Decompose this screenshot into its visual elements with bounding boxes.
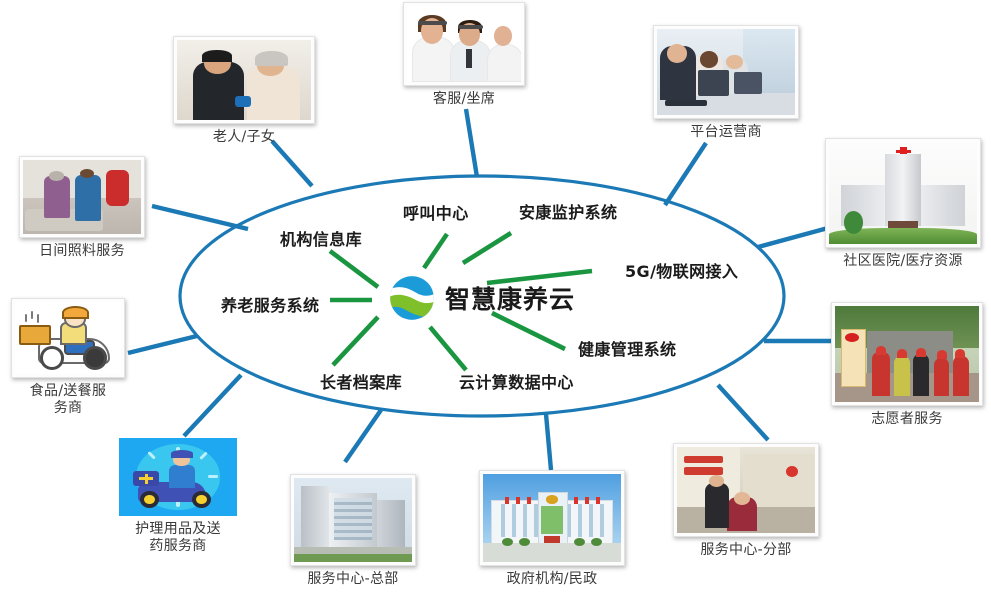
node-caption: 服务中心-总部 (307, 571, 398, 588)
inner-label-health-monitoring: 安康监护系统 (519, 199, 617, 223)
green-spoke-cloud-data-center (430, 327, 466, 370)
spoke-government (546, 414, 551, 470)
photo-hospital-building (825, 138, 981, 248)
spoke-day-care (152, 206, 248, 229)
node-community-hospital[interactable]: 社区医院/医疗资源 (822, 138, 984, 270)
photo-hq-office (290, 474, 416, 566)
spoke-food-delivery (128, 336, 197, 353)
node-service-branch[interactable]: 服务中心-分部 (670, 443, 822, 559)
spoke-nursing-supply (184, 375, 241, 436)
inner-label-elder-archive: 长者档案库 (320, 369, 402, 393)
node-volunteer-service[interactable]: 志愿者服务 (828, 302, 986, 428)
node-caption: 老人/子女 (213, 129, 275, 146)
icon-medicine-delivery-scooter (119, 438, 237, 516)
spoke-elder-child (272, 141, 312, 186)
green-spoke-health-monitoring (463, 233, 511, 263)
node-nursing-supply[interactable]: 护理用品及送 药服务商 (116, 438, 240, 554)
green-spoke-elder-archive (333, 317, 378, 365)
spoke-service-hq (345, 410, 381, 462)
cloud-leaf-logo-icon (386, 272, 438, 324)
node-caption: 日间照料服务 (39, 243, 125, 260)
node-caption: 志愿者服务 (871, 411, 943, 428)
photo-headset-agents (403, 2, 525, 86)
node-caption: 食品/送餐服 务商 (30, 383, 107, 416)
spoke-hospital (758, 228, 828, 247)
inner-label-call-center: 呼叫中心 (403, 200, 469, 224)
photo-volunteers (831, 302, 983, 406)
inner-label-institution-db: 机构信息库 (280, 226, 362, 250)
brand-title: 智慧康养云 (445, 280, 575, 316)
node-caption: 客服/坐席 (433, 91, 495, 108)
photo-branch-haircut (673, 443, 819, 537)
node-caption: 护理用品及送 药服务商 (135, 521, 221, 554)
node-platform-operator[interactable]: 平台运营商 (650, 25, 802, 141)
node-service-hq[interactable]: 服务中心-总部 (287, 474, 419, 588)
node-elder-child[interactable]: 老人/子女 (170, 36, 318, 146)
node-caption: 社区医院/医疗资源 (843, 253, 962, 270)
green-spoke-institution-db (330, 251, 378, 287)
spoke-platform-operator (665, 143, 706, 205)
icon-food-delivery-scooter (11, 298, 125, 378)
node-food-delivery[interactable]: 食品/送餐服 务商 (8, 298, 128, 416)
inner-label-cloud-data-center: 云计算数据中心 (459, 369, 574, 393)
green-spoke-call-center (424, 234, 447, 268)
inner-label-health-management: 健康管理系统 (578, 336, 676, 360)
photo-elder-child (173, 36, 315, 124)
node-caption: 政府机构/民政 (507, 571, 598, 588)
inner-label-iot-5g-access: 5G/物联网接入 (625, 258, 738, 282)
photo-government-building (479, 470, 625, 566)
photo-operations-room (653, 25, 799, 119)
spoke-customer-service (466, 109, 477, 177)
spoke-service-branch (718, 385, 768, 440)
node-government[interactable]: 政府机构/民政 (476, 470, 628, 588)
diagram-canvas: 智慧康养云 机构信息库 呼叫中心 安康监护系统 5G/物联网接入 养老服务系统 … (0, 0, 991, 611)
photo-day-care (19, 156, 145, 238)
brand-logo: 智慧康养云 (386, 272, 575, 324)
node-day-care[interactable]: 日间照料服务 (14, 156, 150, 260)
node-caption: 平台运营商 (690, 124, 762, 141)
node-customer-service[interactable]: 客服/坐席 (400, 2, 528, 108)
node-caption: 服务中心-分部 (700, 542, 791, 559)
inner-label-elderly-service: 养老服务系统 (221, 292, 319, 316)
